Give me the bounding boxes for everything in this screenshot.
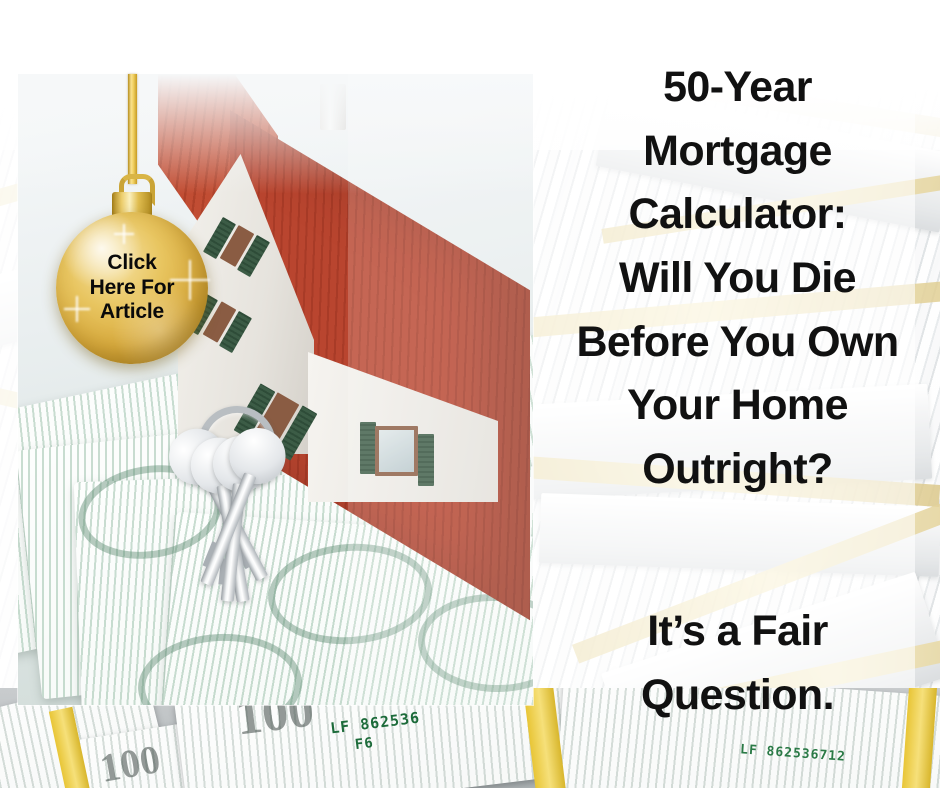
headline-line-4: Will You Die bbox=[535, 247, 940, 311]
promo-graphic-canvas: 100 100 LF 862536 F6 LF 862536712 bbox=[0, 0, 940, 788]
subheadline: It’s a Fair Question. bbox=[535, 600, 940, 727]
banknote-serial: F6 bbox=[354, 735, 375, 753]
ornament-ribbon bbox=[128, 74, 137, 184]
badge-line-1: Click bbox=[107, 251, 156, 275]
badge-line-3: Article bbox=[100, 300, 164, 324]
headline-line-1: 50-Year bbox=[535, 56, 940, 120]
badge-label[interactable]: Click Here For Article bbox=[56, 212, 208, 364]
headline-line-5: Before You Own bbox=[535, 311, 940, 375]
subheadline-line-2: Question. bbox=[535, 664, 940, 728]
badge-line-2: Here For bbox=[90, 276, 175, 300]
headline: 50-Year Mortgage Calculator: Will You Di… bbox=[535, 56, 940, 501]
click-here-ornament-badge[interactable]: Click Here For Article bbox=[18, 74, 198, 324]
house-keys bbox=[128, 404, 358, 654]
headline-line-3: Calculator: bbox=[535, 183, 940, 247]
headline-line-6: Your Home bbox=[535, 374, 940, 438]
headline-line-7: Outright? bbox=[535, 438, 940, 502]
photo-right-wash bbox=[348, 74, 533, 705]
banknote-denomination: 100 bbox=[96, 735, 163, 788]
headline-line-2: Mortgage bbox=[535, 120, 940, 184]
subheadline-line-1: It’s a Fair bbox=[535, 600, 940, 664]
